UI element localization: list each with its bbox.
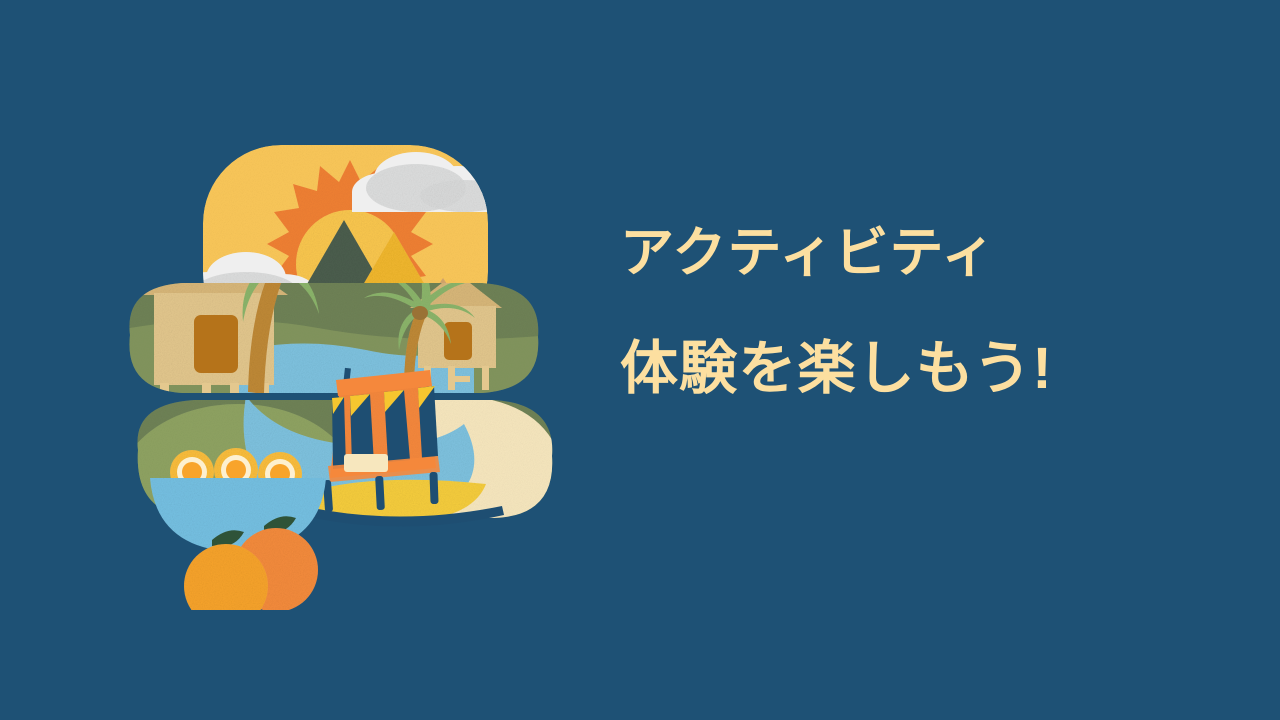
headline-line-1: アクティビティ bbox=[620, 222, 1180, 284]
headline-block: アクティビティ 体験を楽しもう! bbox=[620, 222, 1180, 402]
slide-canvas: アクティビティ 体験を楽しもう! bbox=[0, 0, 1280, 720]
illustration-tropical-island bbox=[118, 100, 578, 610]
headline-line-2: 体験を楽しもう! bbox=[620, 336, 1180, 402]
